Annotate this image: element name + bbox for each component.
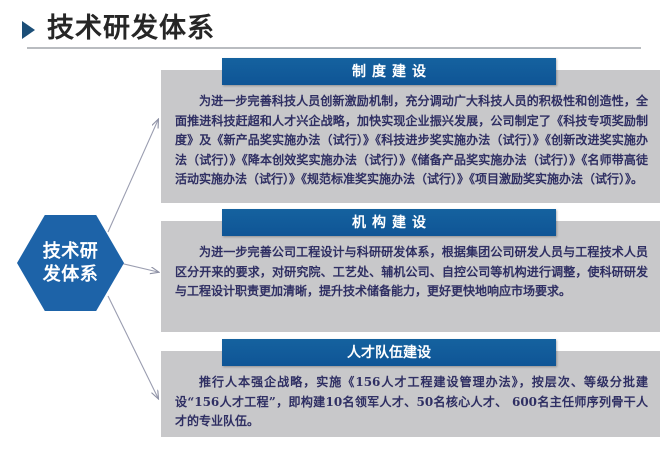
panel-body-talent: 推行人本强企战略，实施《156人才工程建设管理办法》，按层次、等级分批建设“15… — [175, 373, 648, 432]
hexagon-label: 技术研 发体系 — [38, 240, 104, 286]
hexagon-label-line1: 技术研 — [38, 240, 104, 263]
page-title-text: 技术研发体系 — [47, 14, 215, 44]
content-panel-institution: 制度建设 为进一步完善科技人员创新激励机制，充分调动广大科技人员的积极性和创造性… — [161, 70, 660, 203]
hexagon-label-line2: 发体系 — [38, 263, 104, 286]
panel-header-label: 制度建设 — [346, 64, 432, 80]
page-title: 技术研发体系 — [22, 12, 215, 46]
arrow-to-panel-3 — [108, 296, 158, 398]
arrow-to-panel-2 — [120, 263, 158, 272]
panel-header-institution[interactable]: 制度建设 — [222, 58, 556, 85]
slide-canvas: 技术研发体系 技术研 发体系 制度建设 为进一步完善科技人员创新激励机制，充分调… — [0, 0, 669, 458]
panel-header-label: 人才队伍建设 — [347, 345, 431, 361]
panel-body-institution: 为进一步完善科技人员创新激励机制，充分调动广大科技人员的积极性和创造性，全面推进… — [175, 92, 648, 190]
triangle-right-icon — [22, 21, 35, 39]
content-panel-organization: 机构建设 为进一步完善公司工程设计与科研研发体系，根据集团公司研发人员与工程技术… — [161, 221, 660, 332]
arrow-to-panel-1 — [108, 120, 158, 232]
hexagon-node-core[interactable]: 技术研 发体系 — [17, 215, 124, 311]
panel-header-label: 机构建设 — [346, 215, 432, 231]
content-panel-talent: 人才队伍建设 推行人本强企战略，实施《156人才工程建设管理办法》，按层次、等级… — [161, 351, 660, 437]
panel-header-talent[interactable]: 人才队伍建设 — [222, 339, 556, 366]
title-divider — [27, 47, 641, 49]
panel-header-organization[interactable]: 机构建设 — [222, 209, 556, 236]
panel-body-organization: 为进一步完善公司工程设计与科研研发体系，根据集团公司研发人员与工程技术人员区分开… — [175, 243, 648, 302]
